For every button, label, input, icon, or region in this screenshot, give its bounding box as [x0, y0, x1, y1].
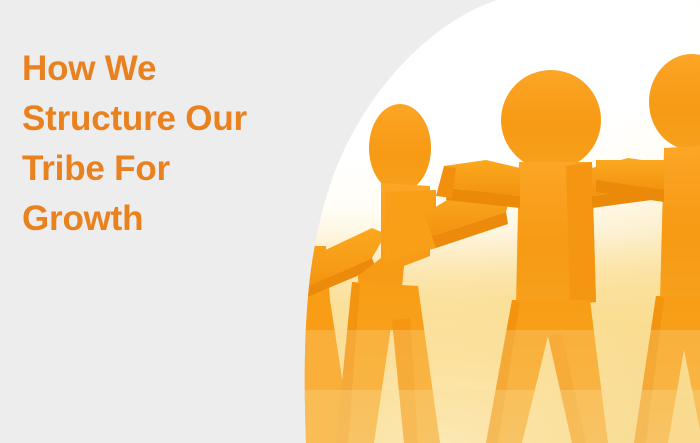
headline-line-2: Structure Our	[22, 94, 307, 144]
page-title: How We Structure Our Tribe For Growth	[22, 44, 307, 244]
banner-canvas: How We Structure Our Tribe For Growth	[0, 0, 700, 443]
headline-line-3: Tribe For	[22, 144, 307, 194]
headline-line-1: How We	[22, 44, 307, 94]
headline-line-4: Growth	[22, 194, 307, 244]
